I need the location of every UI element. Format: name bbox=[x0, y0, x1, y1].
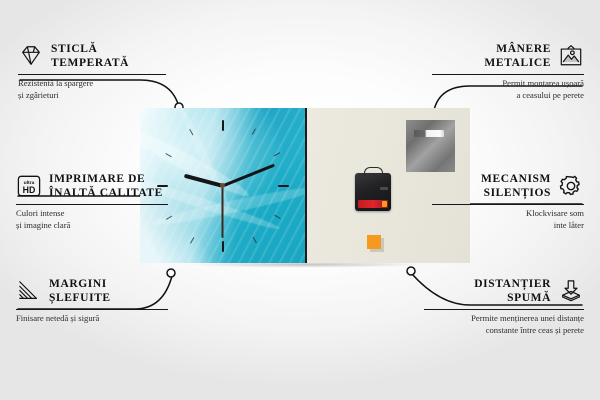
callout-subtitle: Rezistentă la spargere și zgârieturi bbox=[18, 78, 166, 101]
callout-tempered-glass[interactable]: STICLĂ TEMPERATĂ Rezistentă la spargere … bbox=[18, 42, 166, 101]
callout-title: MARGINI ȘLEFUITE bbox=[49, 277, 111, 305]
picture-hanger-icon bbox=[558, 44, 584, 68]
callout-subtitle: Permite menținerea unei distanțe constan… bbox=[424, 313, 584, 336]
callout-header: MÂNERE METALICE bbox=[432, 42, 584, 70]
clock-tick bbox=[223, 185, 289, 187]
callout-subtitle: Finisare netedă și sigură bbox=[16, 313, 168, 325]
clock-center-cap bbox=[220, 183, 225, 188]
callout-header: STICLĂ TEMPERATĂ bbox=[18, 42, 166, 70]
metal-hanger-plate bbox=[406, 120, 455, 172]
mechanism-dial bbox=[380, 187, 388, 190]
callout-subtitle: Klockvisare som inte låter bbox=[432, 208, 584, 231]
callout-title: STICLĂ TEMPERATĂ bbox=[51, 42, 129, 70]
callout-title: IMPRIMARE DE ÎNALTĂ CALITATE bbox=[49, 172, 163, 200]
callout-title: MÂNERE METALICE bbox=[484, 42, 551, 70]
gear-icon bbox=[558, 174, 584, 198]
polished-edges-icon bbox=[16, 279, 42, 303]
callout-header: MARGINI ȘLEFUITE bbox=[16, 277, 168, 305]
callout-rule bbox=[432, 204, 584, 205]
endpoint-polished-edges bbox=[167, 269, 175, 277]
arrow-down-layer-icon bbox=[558, 279, 584, 303]
callout-header: DISTANȚIER SPUMĂ bbox=[424, 277, 584, 305]
callout-header: ultra HD IMPRIMARE DE ÎNALTĂ CALITATE bbox=[16, 172, 168, 200]
clock-mechanism bbox=[355, 173, 391, 211]
callout-title: DISTANȚIER SPUMĂ bbox=[474, 277, 551, 305]
callout-foam-spacer[interactable]: DISTANȚIER SPUMĂ Permite menținerea unei… bbox=[424, 277, 584, 336]
clock-tick bbox=[222, 120, 224, 186]
callout-rule bbox=[16, 204, 168, 205]
callout-subtitle: Culori intense și imagine clară bbox=[16, 208, 168, 231]
hanger-slot bbox=[414, 130, 444, 137]
infographic-canvas: STICLĂ TEMPERATĂ Rezistentă la spargere … bbox=[0, 0, 600, 400]
clock-second-hand bbox=[222, 186, 224, 238]
diamond-icon bbox=[18, 44, 44, 68]
callout-rule bbox=[424, 309, 584, 310]
callout-polished-edges[interactable]: MARGINI ȘLEFUITE Finisare netedă și sigu… bbox=[16, 277, 168, 325]
foam-spacer-pad bbox=[367, 235, 381, 249]
mechanism-loop bbox=[364, 167, 383, 176]
callout-silent-mechanism[interactable]: MECANISM SILENȚIOS Klockvisare som inte … bbox=[432, 172, 584, 231]
callout-title: MECANISM SILENȚIOS bbox=[481, 172, 551, 200]
product-clock bbox=[140, 108, 470, 268]
battery bbox=[358, 200, 388, 208]
ultra-hd-icon-main: HD bbox=[23, 185, 36, 195]
callout-high-quality-print[interactable]: ultra HD IMPRIMARE DE ÎNALTĂ CALITATE Cu… bbox=[16, 172, 168, 231]
callout-rule bbox=[16, 309, 168, 310]
callout-subtitle: Permit montarea ușoară a ceasului pe per… bbox=[432, 78, 584, 101]
callout-rule bbox=[18, 74, 166, 75]
callout-metal-handles[interactable]: MÂNERE METALICE Permit montarea ușoară a… bbox=[432, 42, 584, 101]
callout-header: MECANISM SILENȚIOS bbox=[432, 172, 584, 200]
ultra-hd-icon: ultra HD bbox=[16, 174, 42, 198]
callout-rule bbox=[432, 74, 584, 75]
